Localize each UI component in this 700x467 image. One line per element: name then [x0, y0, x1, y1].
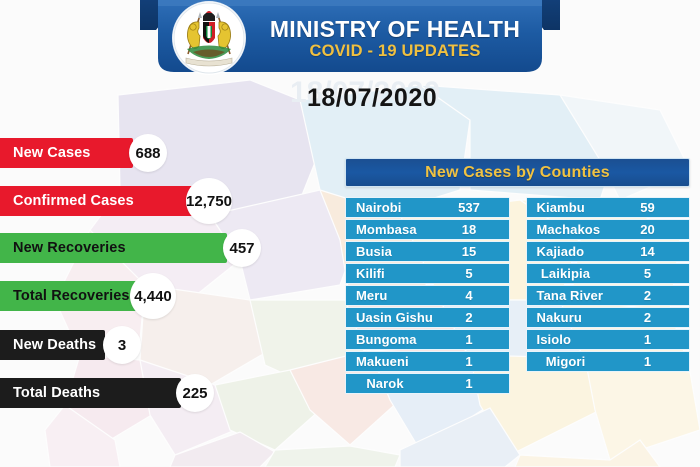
county-case-count: 1 — [625, 354, 671, 369]
county-name: Migori — [527, 354, 605, 369]
county-row: Nairobi537 — [345, 197, 510, 218]
county-name: Bungoma — [356, 332, 417, 347]
stat-bar: New Cases — [0, 138, 133, 168]
header-text-group: MINISTRY OF HEALTH COVID - 19 UPDATES — [240, 4, 550, 74]
stat-value-bubble: 688 — [129, 134, 167, 172]
county-case-count: 5 — [446, 266, 492, 281]
county-case-count: 5 — [625, 266, 671, 281]
county-name: Laikipia — [527, 266, 605, 281]
county-row: Kilifi5 — [345, 263, 510, 284]
kenya-coat-of-arms-icon — [173, 2, 245, 74]
summary-stats-panel: New Cases688Confirmed Cases12,750New Rec… — [0, 138, 280, 408]
county-row: Busia15 — [345, 241, 510, 262]
stat-value-bubble: 225 — [176, 374, 214, 412]
stat-label: New Cases — [13, 145, 90, 161]
county-case-count: 20 — [625, 222, 671, 237]
county-case-count: 18 — [446, 222, 492, 237]
stat-label: Total Deaths — [13, 385, 100, 401]
county-row: Isiolo1 — [526, 329, 691, 350]
county-name: Narok — [346, 376, 424, 391]
stat-bar: Confirmed Cases — [0, 186, 193, 216]
counties-column-left: Nairobi537Mombasa18Busia15Kilifi5Meru4Ua… — [345, 197, 510, 395]
county-row: Kajiado14 — [526, 241, 691, 262]
stat-value-bubble: 3 — [103, 326, 141, 364]
county-case-count: 14 — [625, 244, 671, 259]
county-row: Mombasa18 — [345, 219, 510, 240]
county-case-count: 1 — [625, 332, 671, 347]
county-row: Kiambu59 — [526, 197, 691, 218]
stat-bar: Total Recoveries — [0, 281, 137, 311]
stat-bar: New Recoveries — [0, 233, 227, 263]
stat-bar: Total Deaths — [0, 378, 181, 408]
stat-label: Total Recoveries — [13, 288, 130, 304]
county-name: Meru — [356, 288, 387, 303]
county-case-count: 59 — [625, 200, 671, 215]
counties-panel: New Cases by Counties Nairobi537Mombasa1… — [345, 158, 690, 395]
covid-update-infographic: MINISTRY OF HEALTH COVID - 19 UPDATES 18… — [0, 0, 700, 467]
header-banner: MINISTRY OF HEALTH COVID - 19 UPDATES — [140, 0, 560, 78]
county-row: Meru4 — [345, 285, 510, 306]
county-row: Tana River2 — [526, 285, 691, 306]
county-row: Machakos20 — [526, 219, 691, 240]
stat-label: Confirmed Cases — [13, 193, 134, 209]
county-name: Kilifi — [356, 266, 385, 281]
county-case-count: 1 — [446, 354, 492, 369]
county-row: Bungoma1 — [345, 329, 510, 350]
county-row: Makueni1 — [345, 351, 510, 372]
stat-value-bubble: 457 — [223, 229, 261, 267]
stat-value-bubble: 12,750 — [186, 178, 232, 224]
counties-columns: Nairobi537Mombasa18Busia15Kilifi5Meru4Ua… — [345, 197, 690, 395]
report-date: 18/07/2020 — [307, 84, 437, 113]
county-row: Migori1 — [526, 351, 691, 372]
county-case-count: 4 — [446, 288, 492, 303]
stat-label: New Deaths — [13, 337, 96, 353]
county-name: Uasin Gishu — [356, 310, 433, 325]
county-case-count: 15 — [446, 244, 492, 259]
stat-value-bubble: 4,440 — [130, 273, 176, 319]
county-name: Nakuru — [537, 310, 582, 325]
county-row: Narok1 — [345, 373, 510, 394]
county-case-count: 2 — [625, 288, 671, 303]
county-case-count: 1 — [446, 332, 492, 347]
county-case-count: 2 — [625, 310, 671, 325]
counties-column-right: Kiambu59Machakos20Kajiado14Laikipia5Tana… — [526, 197, 691, 395]
county-row: Laikipia5 — [526, 263, 691, 284]
county-case-count: 2 — [446, 310, 492, 325]
county-name: Makueni — [356, 354, 409, 369]
page-subtitle: COVID - 19 UPDATES — [309, 43, 480, 60]
page-title: MINISTRY OF HEALTH — [270, 17, 520, 41]
counties-header: New Cases by Counties — [345, 158, 690, 187]
county-case-count: 1 — [446, 376, 492, 391]
county-name: Tana River — [537, 288, 604, 303]
county-name: Isiolo — [537, 332, 572, 347]
county-row: Uasin Gishu2 — [345, 307, 510, 328]
county-name: Nairobi — [356, 200, 401, 215]
county-name: Kajiado — [537, 244, 585, 259]
county-name: Machakos — [537, 222, 601, 237]
county-name: Kiambu — [537, 200, 585, 215]
counties-title: New Cases by Counties — [425, 164, 610, 182]
stat-label: New Recoveries — [13, 240, 126, 256]
stat-bar: New Deaths — [0, 330, 105, 360]
county-case-count: 537 — [446, 200, 492, 215]
county-name: Mombasa — [356, 222, 417, 237]
county-row: Nakuru2 — [526, 307, 691, 328]
county-name: Busia — [356, 244, 392, 259]
